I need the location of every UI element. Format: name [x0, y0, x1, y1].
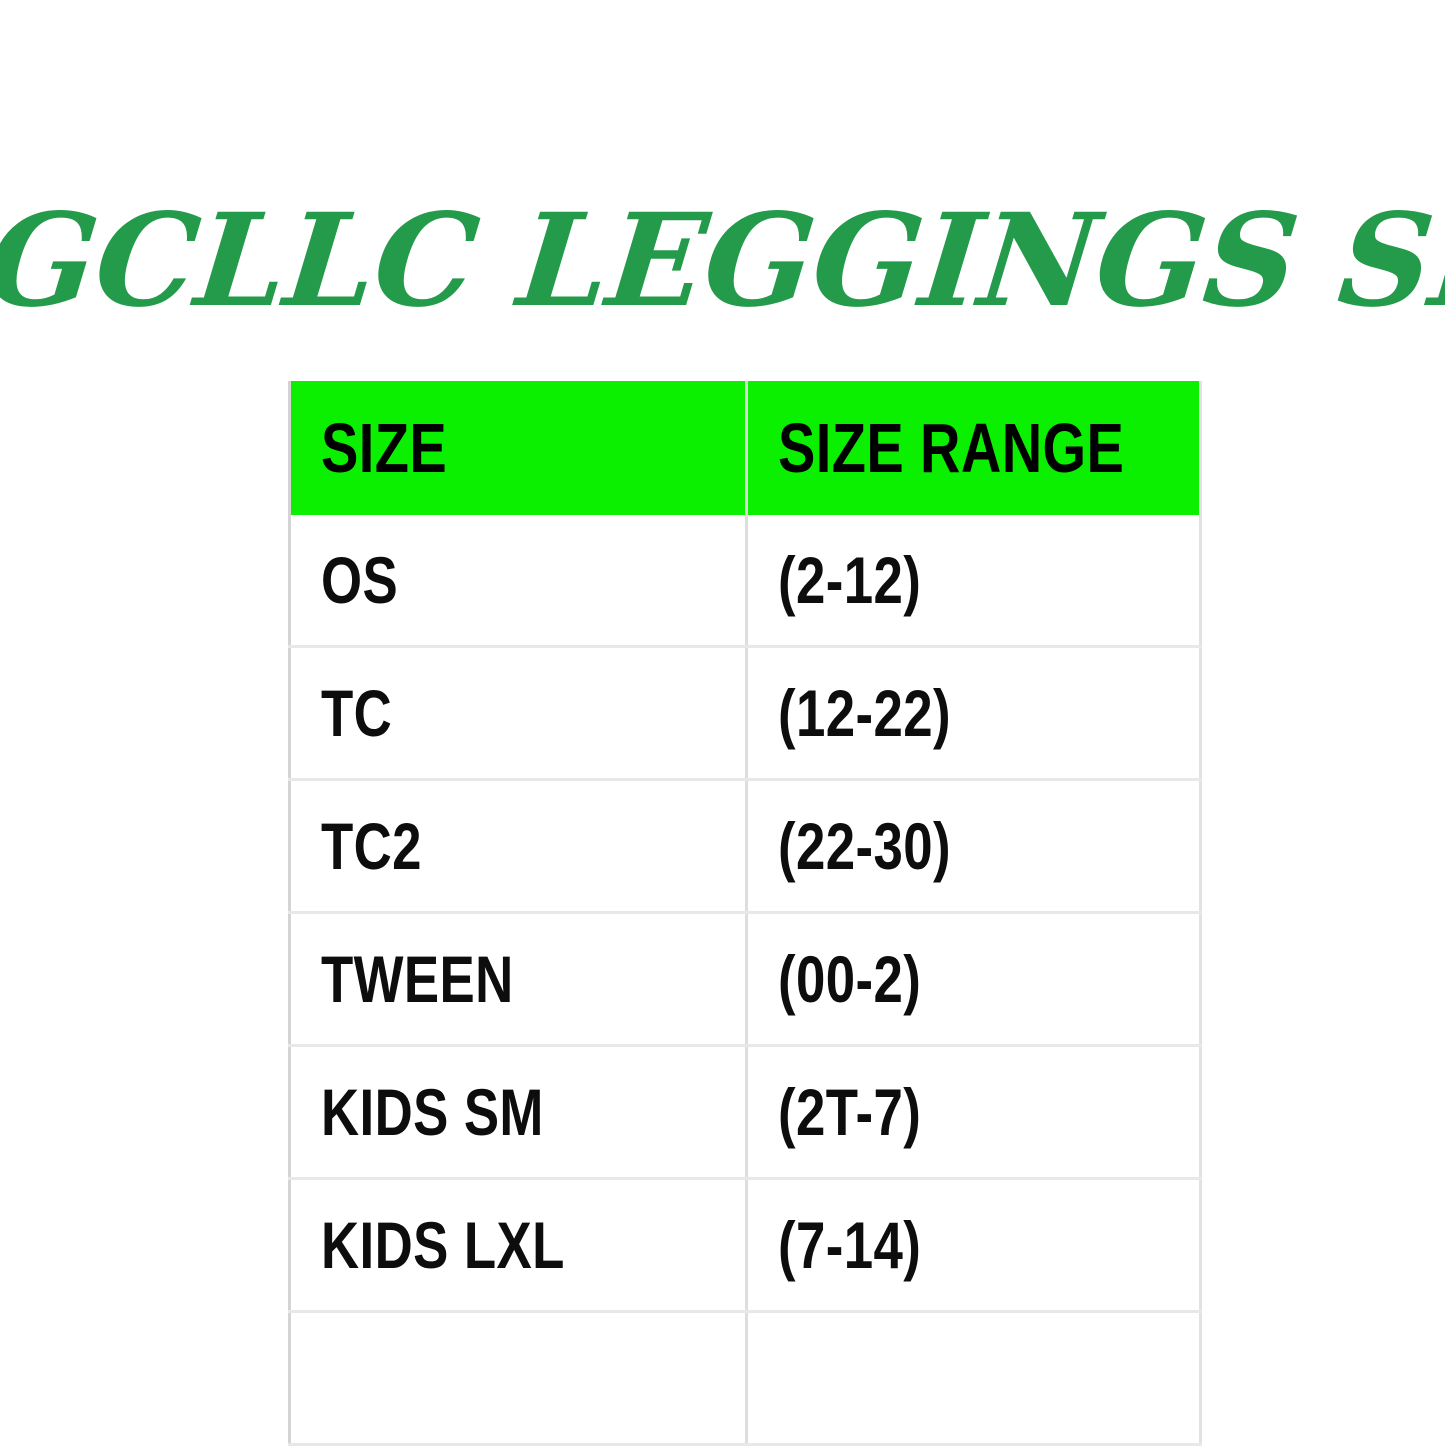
- size-value: KIDS SM: [321, 1079, 544, 1145]
- table-cell-range: [747, 1312, 1201, 1445]
- table-cell-size: KIDS LXL: [290, 1179, 747, 1312]
- table-cell-range: (12-22): [747, 647, 1201, 780]
- size-chart-table: SIZE SIZE RANGE OS (2-12): [288, 381, 1202, 1446]
- size-chart-page: GCLLC LEGGINGS SIZE CHART SIZE SIZE RANG…: [0, 0, 1445, 1445]
- column-header-size: SIZE: [290, 381, 747, 515]
- table-header-row: SIZE SIZE RANGE: [290, 381, 1201, 515]
- column-header-size-range: SIZE RANGE: [747, 381, 1201, 515]
- table-row: TC2 (22-30): [290, 780, 1201, 913]
- table-cell-range: (00-2): [747, 913, 1201, 1046]
- size-value: KIDS LXL: [321, 1212, 565, 1278]
- table-cell-range: (2T-7): [747, 1046, 1201, 1179]
- size-chart-table-wrapper: SIZE SIZE RANGE OS (2-12): [288, 381, 1205, 1446]
- table-row: TWEEN (00-2): [290, 913, 1201, 1046]
- table-row: KIDS SM (2T-7): [290, 1046, 1201, 1179]
- table-cell-range: (7-14): [747, 1179, 1201, 1312]
- size-range-value: (2-12): [778, 547, 921, 613]
- size-value: TWEEN: [321, 946, 514, 1012]
- column-header-size-label: SIZE: [321, 413, 447, 483]
- table-cell-size: [290, 1312, 747, 1445]
- table-body: OS (2-12) TC (12-22) TC2: [290, 515, 1201, 1445]
- table-cell-range: (22-30): [747, 780, 1201, 913]
- size-range-value: (7-14): [778, 1212, 921, 1278]
- size-range-value: (00-2): [778, 946, 921, 1012]
- size-range-value: (2T-7): [778, 1079, 921, 1145]
- table-row: KIDS LXL (7-14): [290, 1179, 1201, 1312]
- table-row: TC (12-22): [290, 647, 1201, 780]
- table-row: OS (2-12): [290, 515, 1201, 647]
- table-row: [290, 1312, 1201, 1445]
- table-cell-range: (2-12): [747, 515, 1201, 647]
- table-cell-size: TC2: [290, 780, 747, 913]
- size-value: TC: [321, 680, 392, 746]
- table-cell-size: TC: [290, 647, 747, 780]
- table-cell-size: TWEEN: [290, 913, 747, 1046]
- table-cell-size: KIDS SM: [290, 1046, 747, 1179]
- page-title: GCLLC LEGGINGS SIZE CHART: [0, 186, 1445, 356]
- size-range-value: (12-22): [778, 680, 951, 746]
- page-title-text: GCLLC LEGGINGS SIZE CHART: [0, 186, 1445, 336]
- table-header: SIZE SIZE RANGE: [290, 381, 1201, 515]
- size-value: TC2: [321, 813, 422, 879]
- size-value: OS: [321, 547, 398, 613]
- column-header-size-range-label: SIZE RANGE: [778, 413, 1124, 483]
- table-cell-size: OS: [290, 515, 747, 647]
- size-range-value: (22-30): [778, 813, 951, 879]
